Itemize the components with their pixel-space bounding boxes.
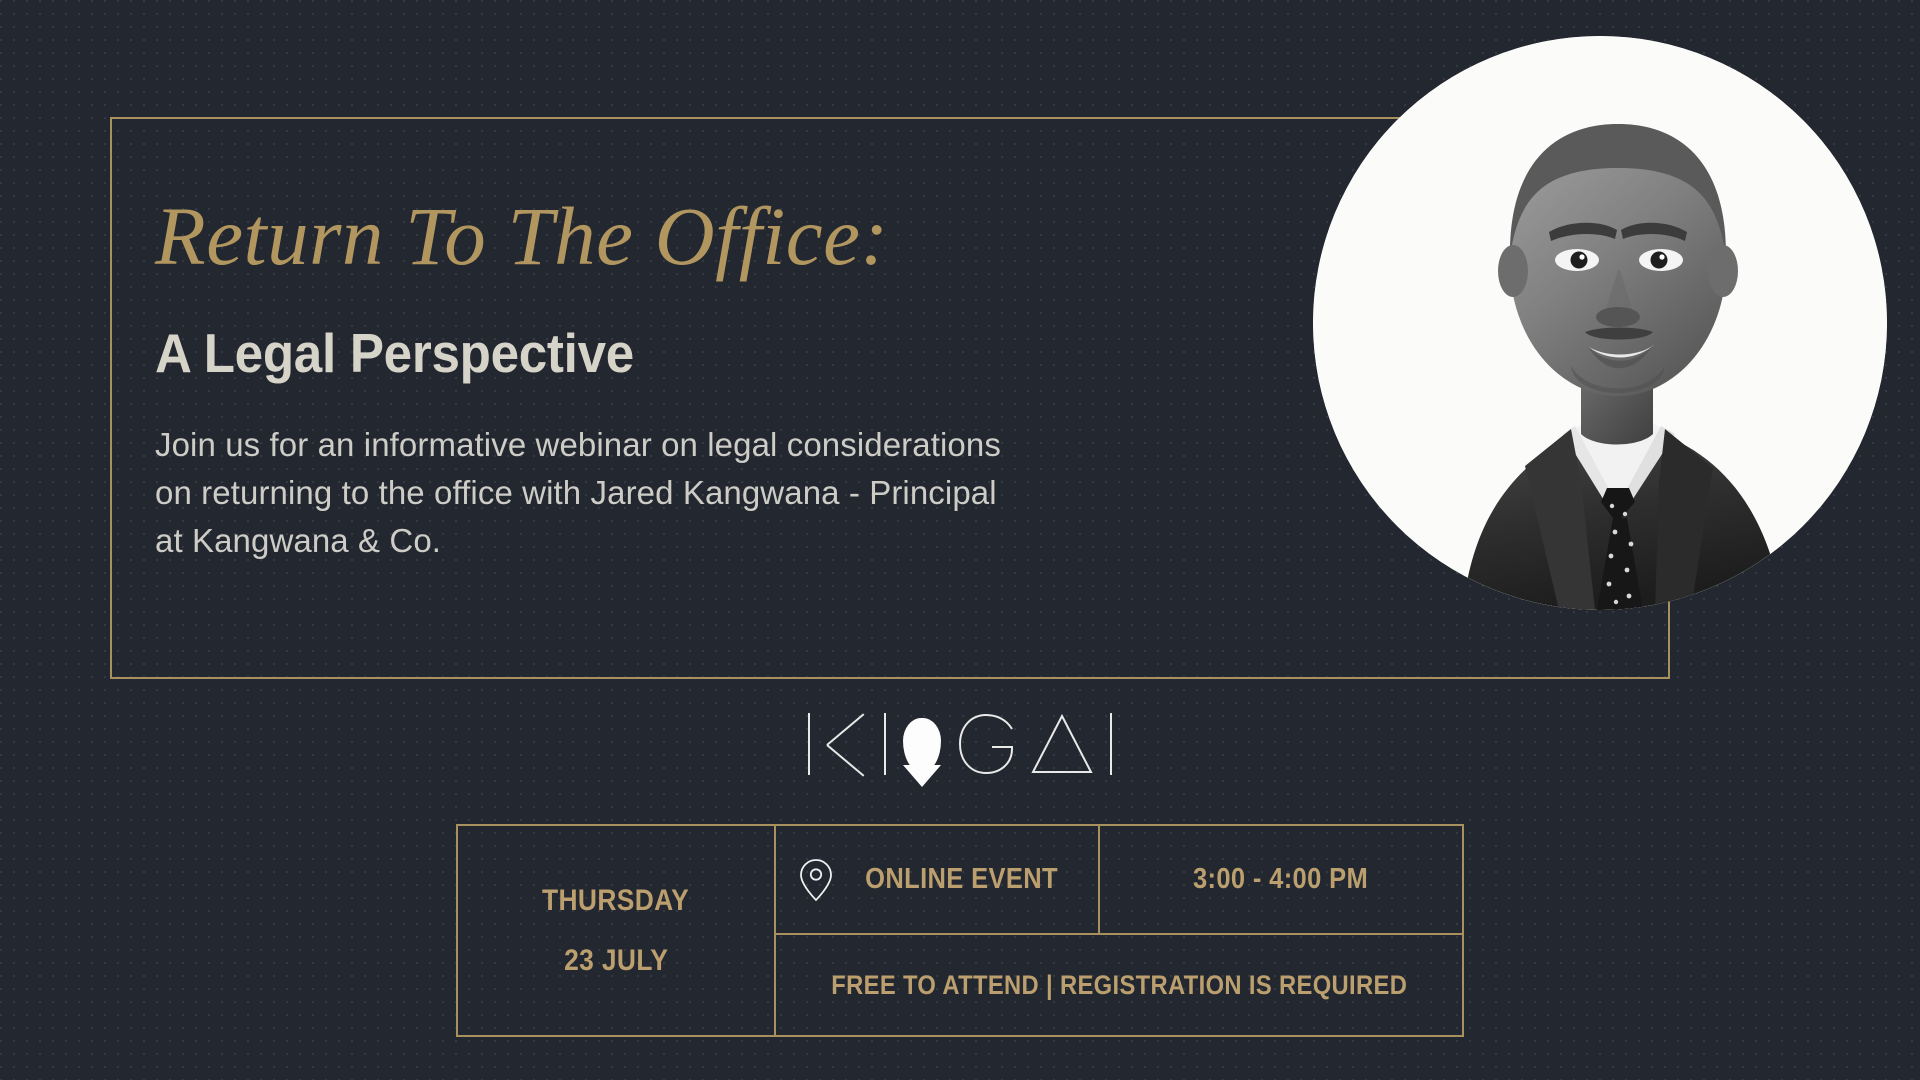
logo-letter-k-icon bbox=[827, 713, 867, 775]
description-line-3: at Kangwana & Co. bbox=[155, 517, 1295, 565]
headline-block: Return To The Office: A Legal Perspectiv… bbox=[155, 195, 1335, 565]
page-title-script: Return To The Office: bbox=[155, 195, 1335, 278]
event-registration-note: FREE TO ATTEND | REGISTRATION IS REQUIRE… bbox=[831, 970, 1407, 1001]
event-time-label: 3:00 - 4:00 PM bbox=[1193, 863, 1368, 896]
logo-letter-i3-icon bbox=[1110, 713, 1112, 775]
event-venue-label: ONLINE EVENT bbox=[865, 863, 1058, 896]
page-subtitle: A Legal Perspective bbox=[155, 326, 1252, 381]
logo-letter-a-triangle-icon bbox=[1031, 713, 1093, 775]
logo-letter-i1-icon bbox=[808, 713, 810, 775]
poster-canvas: Return To The Office: A Legal Perspectiv… bbox=[0, 0, 1920, 1080]
event-venue-time-row: ONLINE EVENT 3:00 - 4:00 PM bbox=[776, 826, 1462, 935]
location-pin-icon bbox=[799, 858, 833, 902]
event-date-cell: THURSDAY 23 JULY bbox=[458, 826, 776, 1035]
event-registration-cell: FREE TO ATTEND | REGISTRATION IS REQUIRE… bbox=[776, 935, 1462, 1035]
description-line-1: Join us for an informative webinar on le… bbox=[155, 421, 1295, 469]
ikigai-logo bbox=[808, 713, 1112, 775]
description-line-2: on returning to the office with Jared Ka… bbox=[155, 469, 1295, 517]
logo-letter-g-icon bbox=[958, 713, 1014, 775]
event-time-cell: 3:00 - 4:00 PM bbox=[1100, 826, 1462, 933]
description-paragraph: Join us for an informative webinar on le… bbox=[155, 421, 1295, 565]
speaker-portrait bbox=[1313, 36, 1887, 610]
event-venue-cell: ONLINE EVENT bbox=[776, 826, 1100, 933]
logo-pin-icon bbox=[903, 718, 941, 772]
logo-letter-i2-icon bbox=[884, 713, 886, 775]
event-date: 23 JULY bbox=[564, 944, 668, 978]
event-weekday: THURSDAY bbox=[542, 884, 689, 918]
event-info-table: THURSDAY 23 JULY ONLINE EVENT 3:00 - 4:0… bbox=[456, 824, 1464, 1037]
